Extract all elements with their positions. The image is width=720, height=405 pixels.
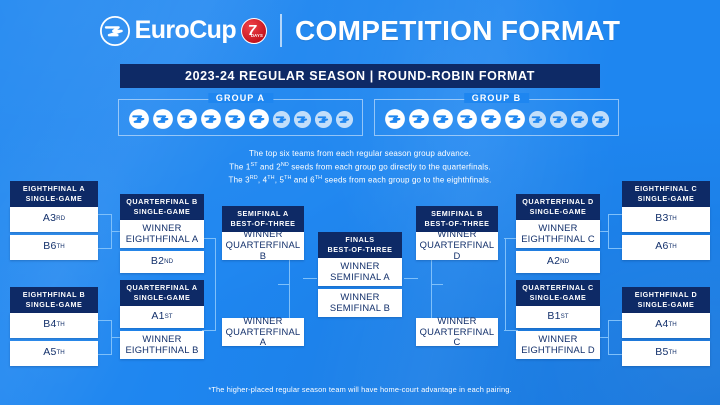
quarterfinal-a-slot-2[interactable]: WINNER EIGHTHFINAL B — [120, 331, 204, 359]
eurocup-logo: EuroCup 7 DAYS — [100, 16, 267, 46]
connector-qfa-out — [202, 330, 216, 331]
semifinal-a-slot-1[interactable]: WINNER QUARTERFINAL B — [222, 232, 304, 260]
badge-suffix: DAYS — [251, 33, 263, 38]
semifinal-a-slot-2-line2: QUARTERFINAL A — [222, 327, 304, 349]
semifinal-a-slot-1-line2: QUARTERFINAL B — [222, 240, 304, 262]
eurocup-e-mark-icon — [100, 16, 130, 46]
connector-qfb-out — [202, 238, 216, 239]
eighthfinal-b-slot-1-sup: TH — [57, 319, 65, 331]
team-logo-icon — [272, 110, 291, 129]
eighthfinal-a-subtitle: SINGLE-GAME — [12, 194, 96, 204]
connector-e8b-bottom — [98, 354, 112, 355]
finals-header: FINALS BEST-OF-THREE — [318, 232, 402, 258]
eighthfinal-d-slot-2-sup: TH — [669, 347, 677, 359]
group-b-team-list — [384, 108, 610, 130]
header-divider — [280, 14, 282, 47]
exp2-b: and 2 — [258, 162, 281, 171]
node-eighthfinal-a: EIGHTHFINAL A SINGLE-GAME A3RD B6TH — [10, 181, 98, 260]
connector-sfb-mid — [431, 284, 443, 285]
eighthfinal-b-slot-1[interactable]: B4TH — [10, 313, 98, 338]
quarterfinal-d-header: QUARTERFINAL D SINGLE-GAME — [516, 194, 600, 220]
finals-slot-1[interactable]: WINNER SEMIFINAL A — [318, 258, 402, 286]
semifinal-a-slot-2[interactable]: WINNER QUARTERFINAL A — [222, 318, 304, 346]
quarterfinal-d-title: QUARTERFINAL D — [518, 197, 598, 207]
finals-title: FINALS — [320, 235, 400, 245]
eighthfinal-a-slot-2[interactable]: B6TH — [10, 235, 98, 260]
eighthfinal-d-slot-2[interactable]: B5TH — [622, 341, 710, 366]
connector-finals-left — [303, 278, 317, 279]
eighthfinal-c-title: EIGHTHFINAL C — [624, 184, 708, 194]
team-logo-icon — [504, 108, 526, 130]
team-logo-icon — [128, 108, 150, 130]
semifinal-b-slot-1-line2: QUARTERFINAL D — [416, 240, 498, 262]
node-semifinal-b: SEMIFINAL B BEST-OF-THREE WINNER QUARTER… — [416, 206, 498, 260]
quarterfinal-d-slot-1-line2: EIGHTHFINAL C — [521, 234, 595, 245]
group-a-panel: GROUP A — [118, 99, 363, 136]
eurocup-wordmark: EuroCup — [135, 18, 236, 43]
eighthfinal-b-title: EIGHTHFINAL B — [12, 290, 96, 300]
eighthfinal-b-slot-2-sup: TH — [57, 347, 65, 359]
eighthfinal-a-slot-1-text: A3 — [43, 213, 56, 225]
quarterfinal-c-subtitle: SINGLE-GAME — [518, 293, 598, 303]
connector-e8d-bottom — [608, 354, 622, 355]
eighthfinal-a-slot-2-sup: TH — [57, 241, 65, 253]
node-quarterfinal-d: QUARTERFINAL D SINGLE-GAME WINNER EIGHTH… — [516, 194, 600, 273]
competition-format-infographic: EuroCup 7 DAYS COMPETITION FORMAT 2023-2… — [0, 0, 720, 405]
exp3-a: The 3 — [229, 175, 250, 184]
team-logo-icon — [200, 108, 222, 130]
eighthfinal-c-slot-1[interactable]: B3TH — [622, 207, 710, 232]
footnote: *The higher-placed regular season team w… — [0, 385, 720, 394]
connector-e8d-top — [608, 320, 622, 321]
quarterfinal-b-slot-1[interactable]: WINNER EIGHTHFINAL A — [120, 220, 204, 248]
quarterfinal-b-slot-1-line2: EIGHTHFINAL A — [126, 234, 199, 245]
team-logo-icon — [570, 110, 589, 129]
team-logo-icon — [432, 108, 454, 130]
semifinal-b-subtitle: BEST-OF-THREE — [418, 219, 496, 229]
finals-slot-2-line1: WINNER — [340, 292, 379, 303]
quarterfinal-a-slot-1[interactable]: A1ST — [120, 306, 204, 328]
node-quarterfinal-a: QUARTERFINAL A SINGLE-GAME A1ST WINNER E… — [120, 280, 204, 359]
team-logo-icon — [408, 108, 430, 130]
eighthfinal-d-slot-1[interactable]: A4TH — [622, 313, 710, 338]
eighthfinal-c-slot-2-sup: TH — [669, 241, 677, 253]
semifinal-b-slot-2-line2: QUARTERFINAL C — [416, 327, 498, 349]
quarterfinal-d-slot-2-text: A2 — [547, 256, 560, 268]
eighthfinal-d-slot-1-sup: TH — [669, 319, 677, 331]
group-a-team-list — [128, 108, 354, 130]
semifinal-a-title: SEMIFINAL A — [224, 209, 302, 219]
team-logo-icon — [224, 108, 246, 130]
quarterfinal-d-slot-2[interactable]: A2ND — [516, 251, 600, 273]
quarterfinal-a-title: QUARTERFINAL A — [122, 283, 202, 293]
finals-subtitle: BEST-OF-THREE — [320, 245, 400, 255]
connector-e8a-top — [98, 214, 112, 215]
quarterfinal-b-slot-2-text: B2 — [151, 256, 164, 268]
eighthfinal-a-title: EIGHTHFINAL A — [12, 184, 96, 194]
eighthfinal-a-header: EIGHTHFINAL A SINGLE-GAME — [10, 181, 98, 207]
sevendays-badge-icon: 7 DAYS — [241, 18, 267, 44]
group-a-label: GROUP A — [208, 93, 273, 103]
team-logo-icon — [152, 108, 174, 130]
group-b-panel: GROUP B — [374, 99, 619, 136]
semifinal-b-slot-2-line1: WINNER — [437, 316, 476, 327]
eighthfinal-c-subtitle: SINGLE-GAME — [624, 194, 708, 204]
team-logo-icon — [176, 108, 198, 130]
team-logo-icon — [480, 108, 502, 130]
finals-slot-2-line2: SEMIFINAL B — [330, 303, 390, 314]
exp3-d: and 6 — [292, 175, 315, 184]
exp3-sup2: TH — [267, 175, 275, 181]
quarterfinal-b-slot-1-line1: WINNER — [142, 223, 181, 234]
exp2-sup2: ND — [281, 162, 289, 168]
quarterfinal-c-slot-2-line2: EIGHTHFINAL D — [521, 345, 595, 356]
node-finals: FINALS BEST-OF-THREE WINNER SEMIFINAL A … — [318, 232, 402, 317]
team-logo-icon — [591, 110, 610, 129]
page-header: EuroCup 7 DAYS COMPETITION FORMAT — [0, 14, 720, 47]
connector-e8c-bottom — [608, 248, 622, 249]
team-logo-icon — [293, 110, 312, 129]
quarterfinal-c-slot-1-sup: ST — [561, 311, 569, 323]
eighthfinal-c-slot-1-text: B3 — [655, 213, 668, 225]
team-logo-icon — [384, 108, 406, 130]
finals-slot-1-line2: SEMIFINAL A — [330, 272, 390, 283]
season-banner: 2023-24 REGULAR SEASON | ROUND-ROBIN FOR… — [120, 64, 600, 88]
quarterfinal-b-slot-2-sup: ND — [164, 256, 173, 268]
semifinal-a-slot-2-line1: WINNER — [243, 316, 282, 327]
node-quarterfinal-b: QUARTERFINAL B SINGLE-GAME WINNER EIGHTH… — [120, 194, 204, 273]
quarterfinal-d-subtitle: SINGLE-GAME — [518, 207, 598, 217]
quarterfinal-c-slot-2-line1: WINNER — [538, 334, 577, 345]
exp3-sup1: RD — [250, 175, 258, 181]
eighthfinal-d-subtitle: SINGLE-GAME — [624, 300, 708, 310]
season-banner-label: 2023-24 REGULAR SEASON | ROUND-ROBIN FOR… — [185, 69, 535, 83]
explanation-line-2: The 1ST and 2ND seeds from each group go… — [0, 160, 720, 173]
quarterfinal-b-header: QUARTERFINAL B SINGLE-GAME — [120, 194, 204, 220]
team-logo-icon — [335, 110, 354, 129]
quarterfinal-d-slot-2-sup: ND — [560, 256, 569, 268]
eighthfinal-b-subtitle: SINGLE-GAME — [12, 300, 96, 310]
quarterfinal-c-slot-1[interactable]: B1ST — [516, 306, 600, 328]
finals-slot-1-line1: WINNER — [340, 261, 379, 272]
exp2-a: The 1 — [229, 162, 250, 171]
exp3-c: , 5 — [275, 175, 284, 184]
group-b-label: GROUP B — [464, 93, 530, 103]
team-logo-icon — [314, 110, 333, 129]
connector-e8b-top — [98, 320, 112, 321]
node-quarterfinal-c: QUARTERFINAL C SINGLE-GAME B1ST WINNER E… — [516, 280, 600, 359]
quarterfinal-c-slot-1-text: B1 — [547, 311, 560, 323]
exp3-e: seeds from each group go to the eighthfi… — [322, 175, 491, 184]
finals-slot-2[interactable]: WINNER SEMIFINAL B — [318, 289, 402, 317]
connector-sfa-vert — [215, 238, 216, 331]
exp2-sup1: ST — [250, 162, 257, 168]
connector-e8c-top — [608, 214, 622, 215]
node-eighthfinal-b: EIGHTHFINAL B SINGLE-GAME B4TH A5TH — [10, 287, 98, 366]
eighthfinal-c-slot-1-sup: TH — [669, 213, 677, 225]
semifinal-b-title: SEMIFINAL B — [418, 209, 496, 219]
eighthfinal-a-slot-1[interactable]: A3RD — [10, 207, 98, 232]
eighthfinal-d-slot-1-text: A4 — [655, 319, 668, 331]
quarterfinal-d-slot-1[interactable]: WINNER EIGHTHFINAL C — [516, 220, 600, 248]
explanation-line-1: The top six teams from each regular seas… — [0, 148, 720, 160]
eighthfinal-b-slot-1-text: B4 — [43, 319, 56, 331]
quarterfinal-b-title: QUARTERFINAL B — [122, 197, 202, 207]
quarterfinal-a-subtitle: SINGLE-GAME — [122, 293, 202, 303]
exp3-b: , 4 — [258, 175, 267, 184]
quarterfinal-a-header: QUARTERFINAL A SINGLE-GAME — [120, 280, 204, 306]
semifinal-b-slot-2[interactable]: WINNER QUARTERFINAL C — [416, 318, 498, 346]
page-title: COMPETITION FORMAT — [295, 15, 620, 47]
node-semifinal-a: SEMIFINAL A BEST-OF-THREE WINNER QUARTER… — [222, 206, 304, 260]
team-logo-icon — [456, 108, 478, 130]
semifinal-b-slot-1[interactable]: WINNER QUARTERFINAL D — [416, 232, 498, 260]
exp2-c: seeds from each group go directly to the… — [289, 162, 491, 171]
quarterfinal-a-slot-1-text: A1 — [151, 311, 164, 323]
eighthfinal-b-slot-2-text: A5 — [43, 347, 56, 359]
eighthfinal-d-header: EIGHTHFINAL D SINGLE-GAME — [622, 287, 710, 313]
exp3-sup3: TH — [284, 175, 292, 181]
quarterfinal-a-slot-2-line1: WINNER — [142, 334, 181, 345]
team-logo-icon — [528, 110, 547, 129]
eighthfinal-c-slot-2-text: A6 — [655, 241, 668, 253]
connector-e8a-bottom — [98, 248, 112, 249]
team-logo-icon — [248, 108, 270, 130]
connector-finals-right — [404, 278, 418, 279]
eighthfinal-a-slot-2-text: B6 — [43, 241, 56, 253]
eighthfinal-b-header: EIGHTHFINAL B SINGLE-GAME — [10, 287, 98, 313]
semifinal-a-subtitle: BEST-OF-THREE — [224, 219, 302, 229]
quarterfinal-c-title: QUARTERFINAL C — [518, 283, 598, 293]
quarterfinal-a-slot-1-sup: ST — [165, 311, 173, 323]
connector-sfb-vert — [505, 238, 506, 331]
quarterfinal-b-slot-2[interactable]: B2ND — [120, 251, 204, 273]
eighthfinal-c-header: EIGHTHFINAL C SINGLE-GAME — [622, 181, 710, 207]
quarterfinal-d-slot-1-line1: WINNER — [538, 223, 577, 234]
explanation-line-3: The 3RD, 4TH, 5TH and 6TH seeds from eac… — [0, 173, 720, 186]
node-eighthfinal-c: EIGHTHFINAL C SINGLE-GAME B3TH A6TH — [622, 181, 710, 260]
node-eighthfinal-d: EIGHTHFINAL D SINGLE-GAME A4TH B5TH — [622, 287, 710, 366]
quarterfinal-a-slot-2-line2: EIGHTHFINAL B — [125, 345, 198, 356]
quarterfinal-b-subtitle: SINGLE-GAME — [122, 207, 202, 217]
eighthfinal-a-slot-1-sup: RD — [56, 213, 65, 225]
eighthfinal-b-slot-2[interactable]: A5TH — [10, 341, 98, 366]
eighthfinal-d-title: EIGHTHFINAL D — [624, 290, 708, 300]
quarterfinal-c-slot-2[interactable]: WINNER EIGHTHFINAL D — [516, 331, 600, 359]
quarterfinal-c-header: QUARTERFINAL C SINGLE-GAME — [516, 280, 600, 306]
team-logo-icon — [549, 110, 568, 129]
eighthfinal-d-slot-2-text: B5 — [655, 347, 668, 359]
format-explanation: The top six teams from each regular seas… — [0, 148, 720, 186]
eighthfinal-c-slot-2[interactable]: A6TH — [622, 235, 710, 260]
